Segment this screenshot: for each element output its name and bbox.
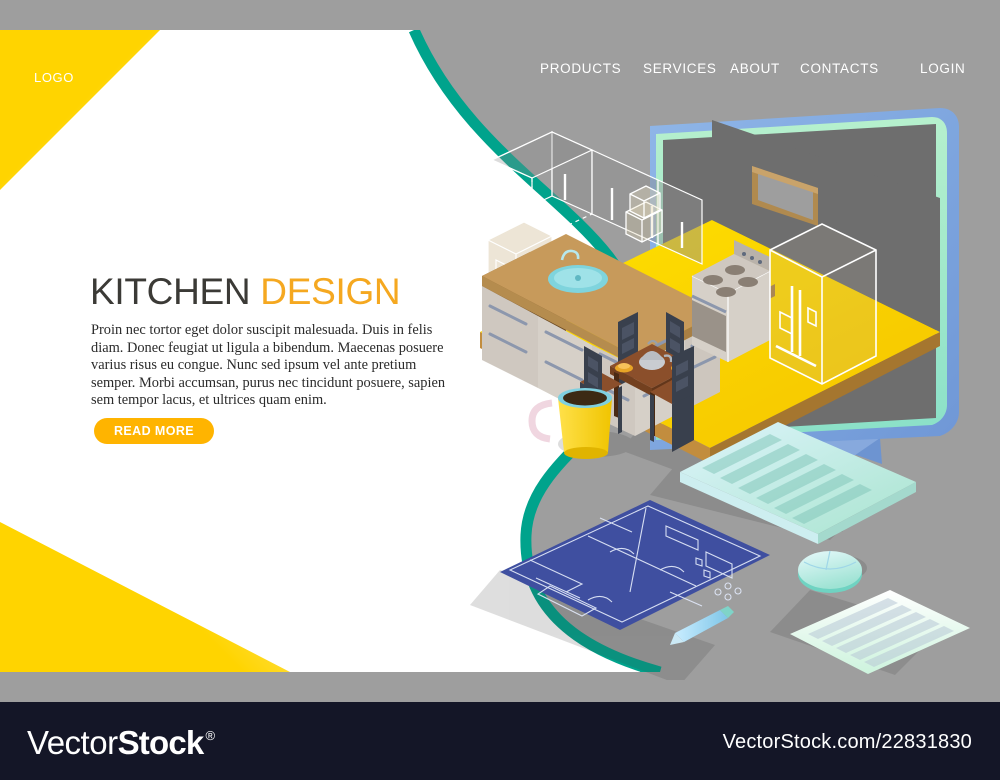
registered-mark-icon: ® (205, 728, 215, 743)
vectorstock-url: VectorStock.com/22831830 (723, 731, 972, 754)
nav-item-login[interactable]: LOGIN (920, 61, 966, 76)
logo-label[interactable]: LOGO (34, 70, 74, 85)
pen (670, 606, 734, 645)
vectorstock-logo: VectorStock® (27, 724, 215, 764)
hero-illustration (470, 100, 1000, 680)
page-root: LOGO (0, 0, 1000, 780)
computer-mouse (798, 551, 862, 593)
refrigerator (770, 224, 876, 384)
nav-item-contacts[interactable]: CONTACTS (800, 61, 879, 76)
nav-item-about[interactable]: ABOUT (730, 61, 780, 76)
hero-body-text: Proin nec tortor eget dolor suscipit mal… (91, 322, 449, 410)
watermark-footer: VectorStock® VectorStock.com/22831830 (0, 702, 1000, 780)
page-title-part2: DESIGN (260, 271, 400, 312)
main-navigation: PRODUCTS SERVICES ABOUT CONTACTS LOGIN (540, 61, 970, 83)
vectorstock-logo-bold: Stock (118, 724, 204, 762)
coffee-mug (532, 388, 612, 459)
read-more-button[interactable]: READ MORE (94, 418, 214, 444)
vectorstock-logo-light: Vector (27, 724, 118, 762)
mug-handle (532, 403, 552, 439)
page-title: KITCHEN DESIGN (90, 273, 400, 310)
coffee-maker (626, 186, 662, 242)
nav-item-services[interactable]: SERVICES (643, 61, 717, 76)
nav-item-products[interactable]: PRODUCTS (540, 61, 621, 76)
page-title-part1: KITCHEN (90, 271, 250, 312)
